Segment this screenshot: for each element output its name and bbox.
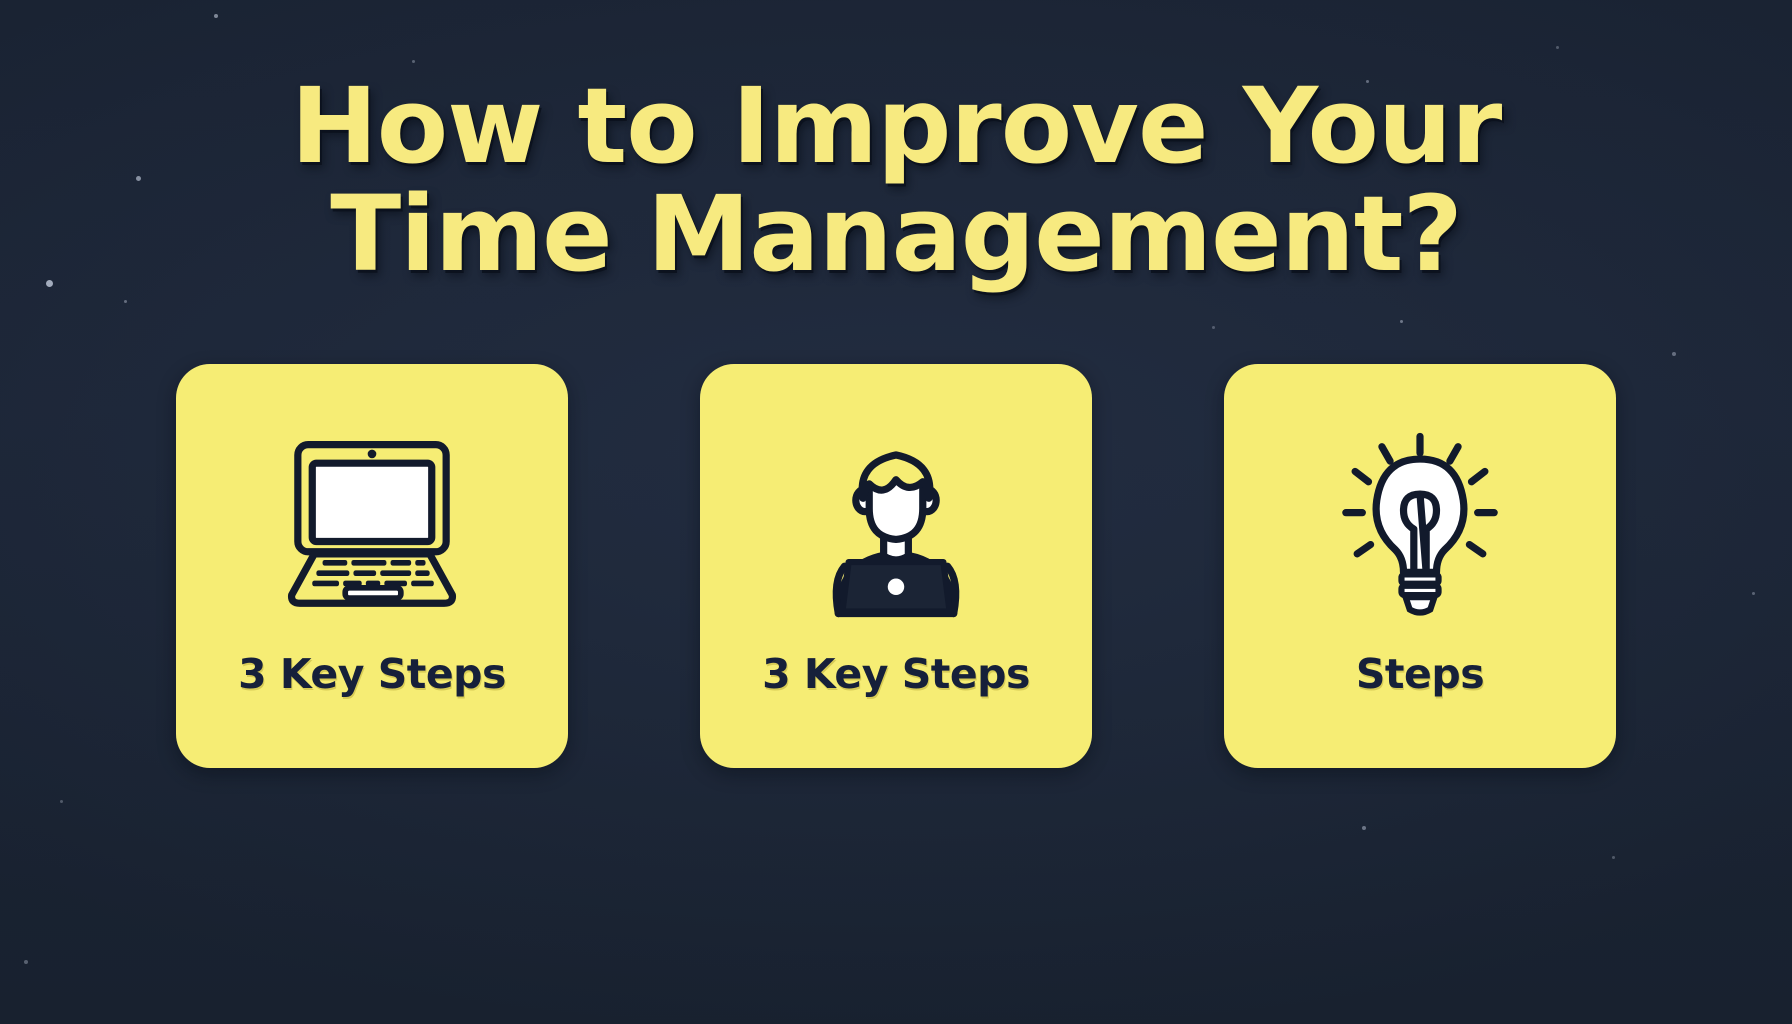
card-label: 3 Key Steps	[238, 650, 506, 698]
background-speck	[1212, 326, 1215, 329]
person-at-laptop-icon	[793, 422, 999, 628]
card-row: 3 Key Steps	[176, 364, 1616, 768]
poster-canvas: How to Improve Your Time Management?	[0, 0, 1792, 1024]
card-laptop[interactable]: 3 Key Steps	[176, 364, 568, 768]
laptop-icon	[269, 422, 475, 628]
background-speck	[60, 800, 63, 803]
background-speck	[1752, 592, 1755, 595]
background-speck	[124, 300, 127, 303]
title-line-2: Time Management?	[0, 180, 1792, 288]
title-line-1: How to Improve Your	[0, 72, 1792, 180]
card-lightbulb[interactable]: Steps	[1224, 364, 1616, 768]
background-speck	[1400, 320, 1403, 323]
page-title: How to Improve Your Time Management?	[0, 72, 1792, 288]
background-speck	[1362, 826, 1366, 830]
card-person-at-laptop[interactable]: 3 Key Steps	[700, 364, 1092, 768]
background-speck	[214, 14, 218, 18]
background-speck	[1612, 856, 1615, 859]
lightbulb-icon	[1317, 422, 1523, 628]
background-speck	[1672, 352, 1676, 356]
card-label: Steps	[1356, 650, 1484, 698]
background-speck	[1556, 46, 1559, 49]
card-label: 3 Key Steps	[762, 650, 1030, 698]
background-speck	[24, 960, 28, 964]
background-speck	[412, 60, 415, 63]
